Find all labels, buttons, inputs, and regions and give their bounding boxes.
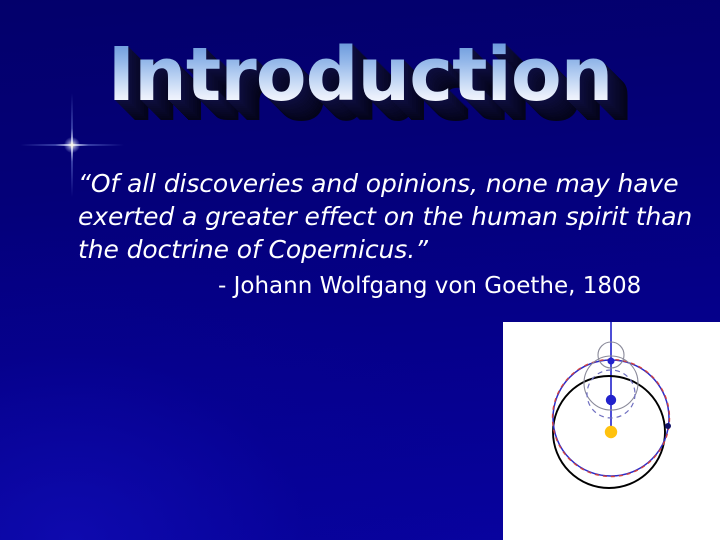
right-node-marker [665, 423, 671, 429]
quote-line-1: “Of all discoveries and opinions, none m… [78, 167, 696, 200]
quote-block: “Of all discoveries and opinions, none m… [78, 167, 696, 300]
wordart-title-face: Introduction [108, 32, 613, 118]
quote-line-2: exerted a greater effect on the human sp… [78, 200, 696, 233]
quote-attribution: - Johann Wolfgang von Goethe, 1808 [78, 272, 696, 300]
wordart-title: Introduction Introduction [108, 38, 613, 112]
upper-node-marker [608, 358, 615, 365]
quote-line-3: the doctrine of Copernicus.” [78, 233, 696, 266]
earth-marker [606, 395, 616, 405]
sun-marker [605, 426, 617, 438]
slide-title-container: Introduction Introduction [0, 38, 720, 112]
slide-canvas: Introduction Introduction “Of all discov… [0, 0, 720, 540]
diagram-panel [503, 322, 720, 540]
heliocentric-epicycle-diagram [503, 322, 720, 540]
sparkle-horizontal-ray [20, 144, 124, 146]
sparkle-core [64, 137, 80, 153]
